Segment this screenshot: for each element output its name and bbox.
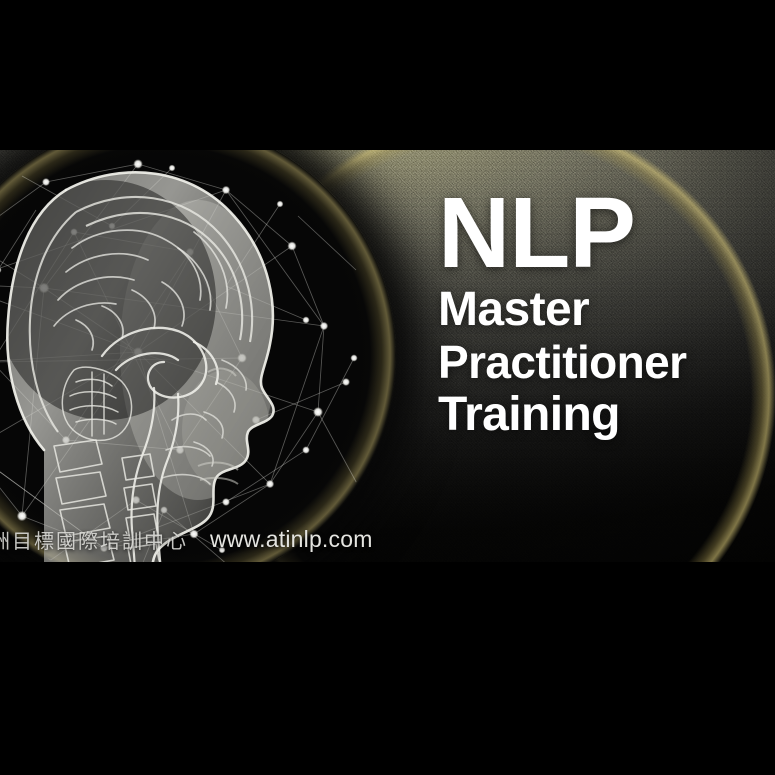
banner-stage: NLP Master Practitioner Training 洲目標國際培訓…: [0, 0, 775, 775]
organization-name-cn: 洲目標國際培訓中心: [0, 525, 188, 554]
letterbox-top: [0, 0, 775, 150]
headline-block: NLP Master Practitioner Training: [438, 185, 768, 442]
letterbox-bottom: [0, 562, 775, 775]
banner-footer: 洲目標國際培訓中心 www.atinlp.com: [0, 522, 775, 556]
page-title: NLP: [438, 185, 768, 281]
subtitle-line-master: Master: [438, 283, 768, 337]
website-url[interactable]: www.atinlp.com: [210, 526, 373, 553]
subtitle-line-practitioner: Practitioner: [438, 337, 768, 389]
subtitle-line-training: Training: [438, 388, 768, 442]
nlp-banner: NLP Master Practitioner Training 洲目標國際培訓…: [0, 150, 775, 562]
